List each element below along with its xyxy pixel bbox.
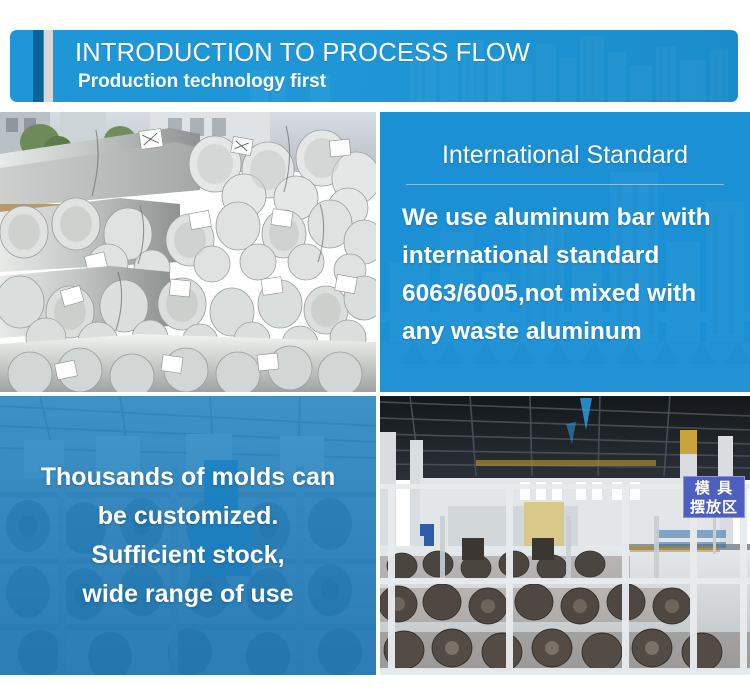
molds-caption-line-2: be customized. [14, 497, 362, 536]
banner-subtitle: Production technology first [78, 69, 530, 95]
banner-accent-bar-gray [44, 30, 53, 102]
sign-post [713, 518, 716, 554]
molds-caption-line-1: Thousands of molds can [14, 458, 362, 497]
heading-divider [406, 184, 724, 185]
mold-area-sign-line-2: 摆放区 [684, 498, 744, 517]
molds-caption: Thousands of molds can be customized. Su… [0, 458, 376, 614]
page-header-banner: INTRODUCTION TO PROCESS FLOW Production … [10, 30, 738, 102]
international-standard-card: International Standard We use aluminum b… [380, 112, 750, 392]
molds-caption-line-4: wide range of use [14, 575, 362, 614]
international-standard-content: International Standard We use aluminum b… [380, 112, 750, 392]
mold-storage-image [380, 396, 750, 675]
mold-area-sign-line-1: 模 具 [684, 479, 744, 498]
banner-accent-bar-dark [33, 30, 43, 102]
international-standard-body: We use aluminum bar with international s… [402, 199, 728, 351]
aluminum-billets-photo [0, 112, 376, 392]
mold-storage-warehouse-photo: 模 具 摆放区 [380, 396, 750, 675]
banner-title: INTRODUCTION TO PROCESS FLOW [75, 36, 530, 70]
mold-area-sign: 模 具 摆放区 [683, 476, 745, 518]
aluminum-billets-image [0, 112, 376, 392]
banner-text-block: INTRODUCTION TO PROCESS FLOW Production … [75, 36, 530, 95]
molds-customization-card: Thousands of molds can be customized. Su… [0, 396, 376, 675]
molds-caption-line-3: Sufficient stock, [14, 536, 362, 575]
international-standard-heading: International Standard [402, 140, 728, 170]
